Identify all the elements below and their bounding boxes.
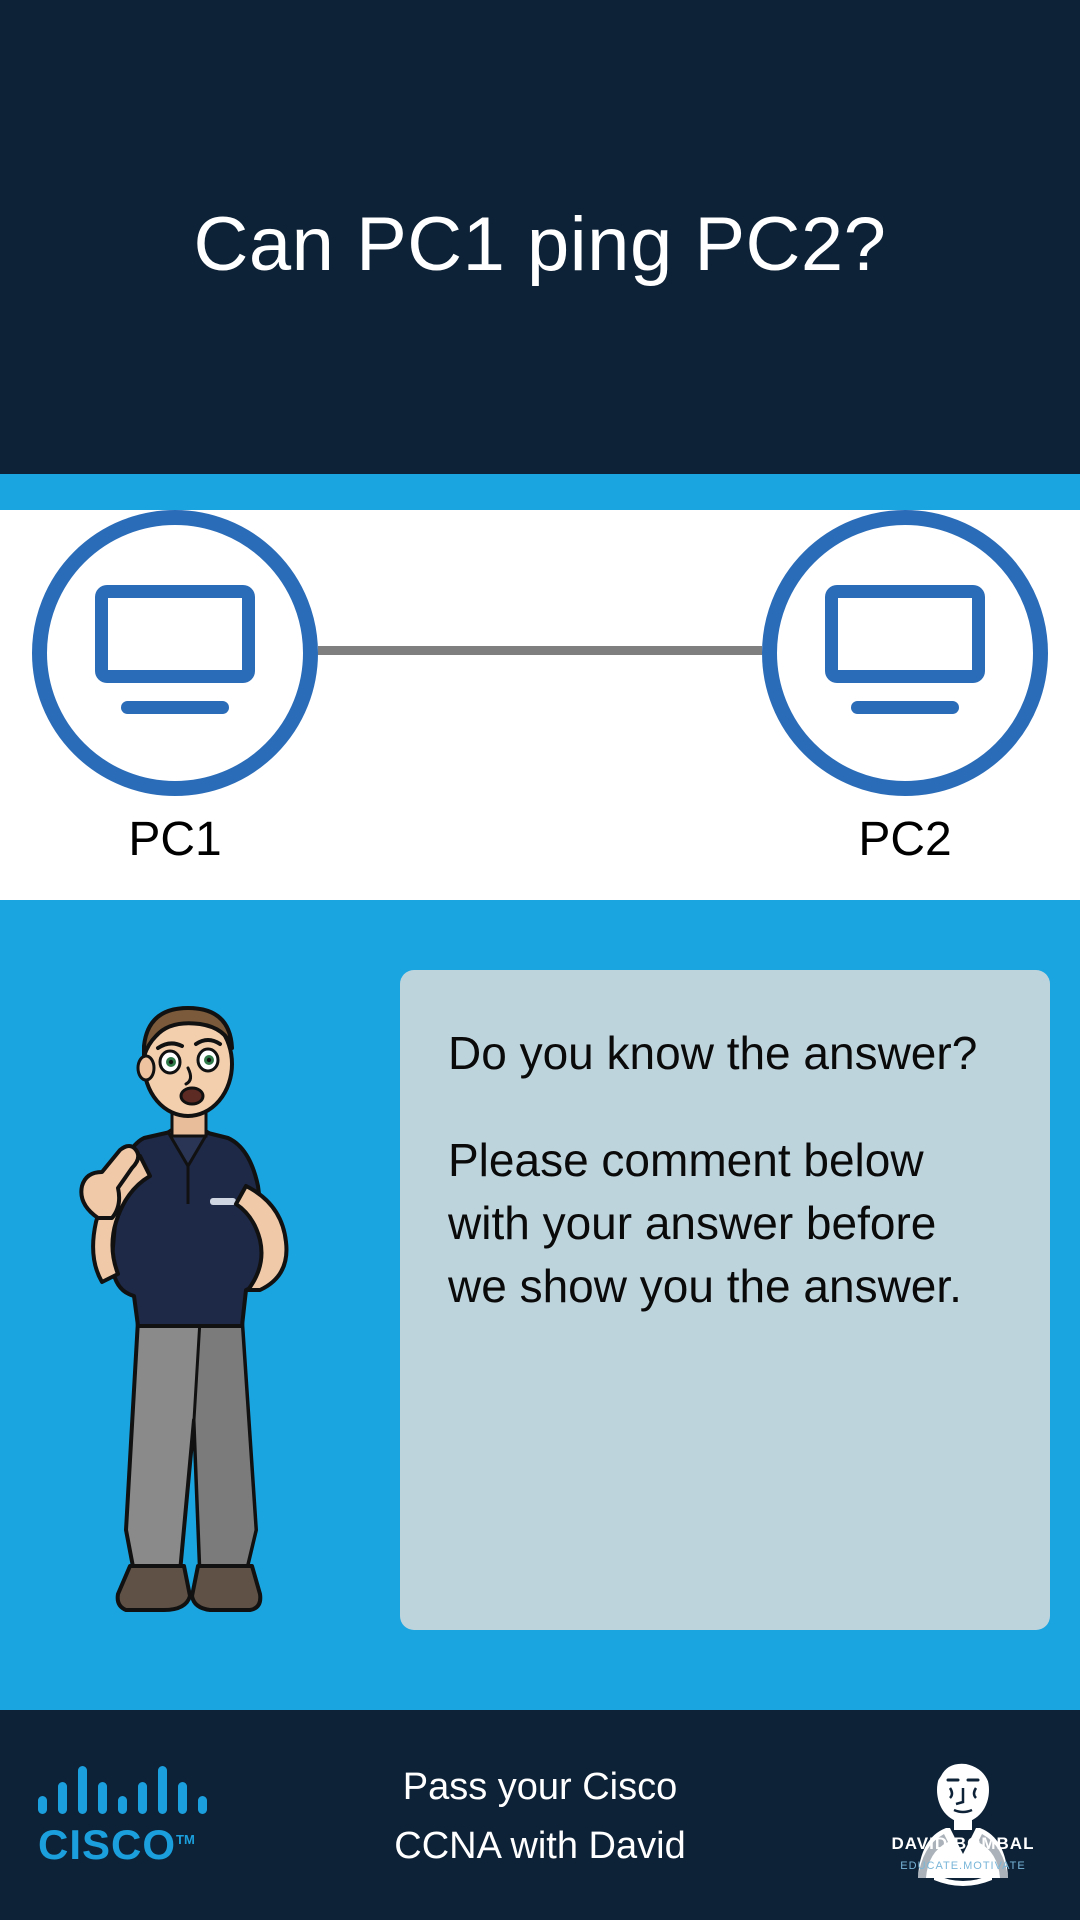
body-section: Do you know the answer? Please comment b… — [0, 900, 1080, 1710]
accent-strip — [0, 474, 1080, 510]
node-label-pc2: PC2 — [762, 812, 1048, 867]
node-circle — [32, 510, 318, 796]
david-bombal-name: DAVID BOMBAL — [888, 1834, 1038, 1854]
network-node-pc1[interactable] — [32, 510, 318, 796]
card-paragraph: Please comment below with your answer be… — [448, 1129, 1004, 1318]
node-label-pc1: PC1 — [32, 812, 318, 867]
monitor-screen — [825, 585, 985, 683]
computer-monitor-icon — [95, 585, 255, 715]
network-diagram: PC1 PC2 — [0, 510, 1080, 900]
network-node-pc2[interactable] — [762, 510, 1048, 796]
page-title: Can PC1 ping PC2? — [194, 203, 887, 287]
monitor-stand — [121, 701, 229, 714]
monitor-screen — [95, 585, 255, 683]
card-heading: Do you know the answer? — [448, 1022, 1004, 1085]
cisco-wordmark: CISCOTM — [38, 1824, 214, 1866]
poster-page: Can PC1 ping PC2? PC1 PC2 — [0, 0, 1080, 1920]
thinking-person-illustration — [60, 990, 320, 1630]
footer-tagline: Pass your Cisco CCNA with David — [300, 1758, 780, 1876]
header-banner: Can PC1 ping PC2? — [0, 0, 1080, 474]
monitor-stand — [851, 701, 959, 714]
footer-tagline-line1: Pass your Cisco — [300, 1758, 780, 1817]
cisco-trademark: TM — [176, 1832, 195, 1847]
cisco-bars-icon — [38, 1762, 206, 1814]
node-circle — [762, 510, 1048, 796]
answer-prompt-card: Do you know the answer? Please comment b… — [400, 970, 1050, 1630]
footer-bar: CISCOTM Pass your Cisco CCNA with David — [0, 1710, 1080, 1920]
network-link — [318, 646, 762, 655]
footer-tagline-line2: CCNA with David — [300, 1817, 780, 1876]
computer-monitor-icon — [825, 585, 985, 715]
david-bombal-logo: DAVID BOMBAL EDUCATE.MOTIVATE — [888, 1746, 1038, 1886]
cisco-wordmark-text: CISCO — [38, 1821, 176, 1868]
david-bombal-tagline: EDUCATE.MOTIVATE — [888, 1860, 1038, 1872]
cisco-logo: CISCOTM — [38, 1762, 214, 1874]
